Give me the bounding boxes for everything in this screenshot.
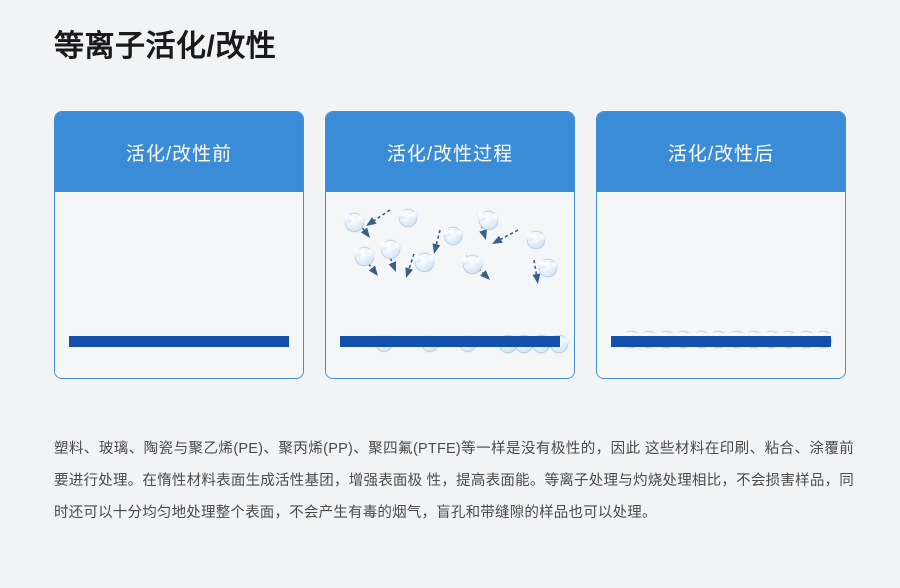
card-body-before xyxy=(55,192,303,378)
substrate-bar-after xyxy=(611,336,831,347)
bubble-highlight xyxy=(359,250,364,254)
bubble-highlight xyxy=(349,216,354,220)
card-header-label-after: 活化/改性后 xyxy=(668,139,774,166)
floating-particle xyxy=(539,259,557,277)
floating-particle xyxy=(415,253,434,272)
arrow-head xyxy=(532,273,540,284)
floating-particle xyxy=(345,213,364,232)
floating-particle xyxy=(479,211,498,230)
arrow-head xyxy=(361,228,370,238)
arrow-head xyxy=(405,267,413,278)
arrow-shaft xyxy=(436,230,440,244)
bubble-highlight xyxy=(419,256,424,260)
arrow-head xyxy=(389,261,396,272)
bubble-highlight xyxy=(448,230,453,234)
card-header-process: 活化/改性过程 xyxy=(326,112,574,192)
arrow-shaft xyxy=(374,210,390,220)
arrow-head xyxy=(479,229,487,240)
treated-surface-scene xyxy=(597,192,845,378)
arrow-shaft xyxy=(501,230,518,239)
card-activation-after: 活化/改性后 xyxy=(596,111,846,379)
arrow-head xyxy=(433,243,441,254)
arrow-head xyxy=(492,236,503,244)
floating-particle xyxy=(444,227,462,245)
floating-particle xyxy=(463,255,482,274)
substrate-bar-process xyxy=(340,336,560,347)
floating-particle xyxy=(399,209,417,227)
bubble-highlight xyxy=(543,262,548,266)
arrow-head xyxy=(480,270,490,280)
arrow-head xyxy=(369,266,378,276)
plasma-particle-scene xyxy=(326,192,574,378)
bubble-highlight xyxy=(467,258,472,262)
card-body-after xyxy=(597,192,845,378)
arrow-head xyxy=(366,217,377,226)
cards-row: 活化/改性前 活化/改性过程 活化/改性后 xyxy=(54,111,846,379)
card-header-before: 活化/改性前 xyxy=(55,112,303,192)
card-activation-process: 活化/改性过程 xyxy=(325,111,575,379)
substrate-bar-before xyxy=(69,336,289,347)
floating-particle xyxy=(381,240,400,259)
bubble-highlight xyxy=(385,243,390,247)
bubble-highlight xyxy=(403,212,408,216)
card-header-label-before: 活化/改性前 xyxy=(126,139,232,166)
bubble-highlight xyxy=(483,214,488,218)
floating-particle xyxy=(527,231,545,249)
card-header-label-process: 活化/改性过程 xyxy=(387,139,513,166)
card-activation-before: 活化/改性前 xyxy=(54,111,304,379)
card-header-after: 活化/改性后 xyxy=(597,112,845,192)
arrow-shaft xyxy=(534,260,536,274)
page-title: 等离子活化/改性 xyxy=(54,29,276,65)
bubble-highlight xyxy=(531,234,536,238)
card-body-process xyxy=(326,192,574,378)
description-paragraph: 塑料、玻璃、陶瓷与聚乙烯(PE)、聚丙烯(PP)、聚四氟(PTFE)等一样是没有… xyxy=(54,433,854,529)
floating-particle xyxy=(355,247,374,266)
